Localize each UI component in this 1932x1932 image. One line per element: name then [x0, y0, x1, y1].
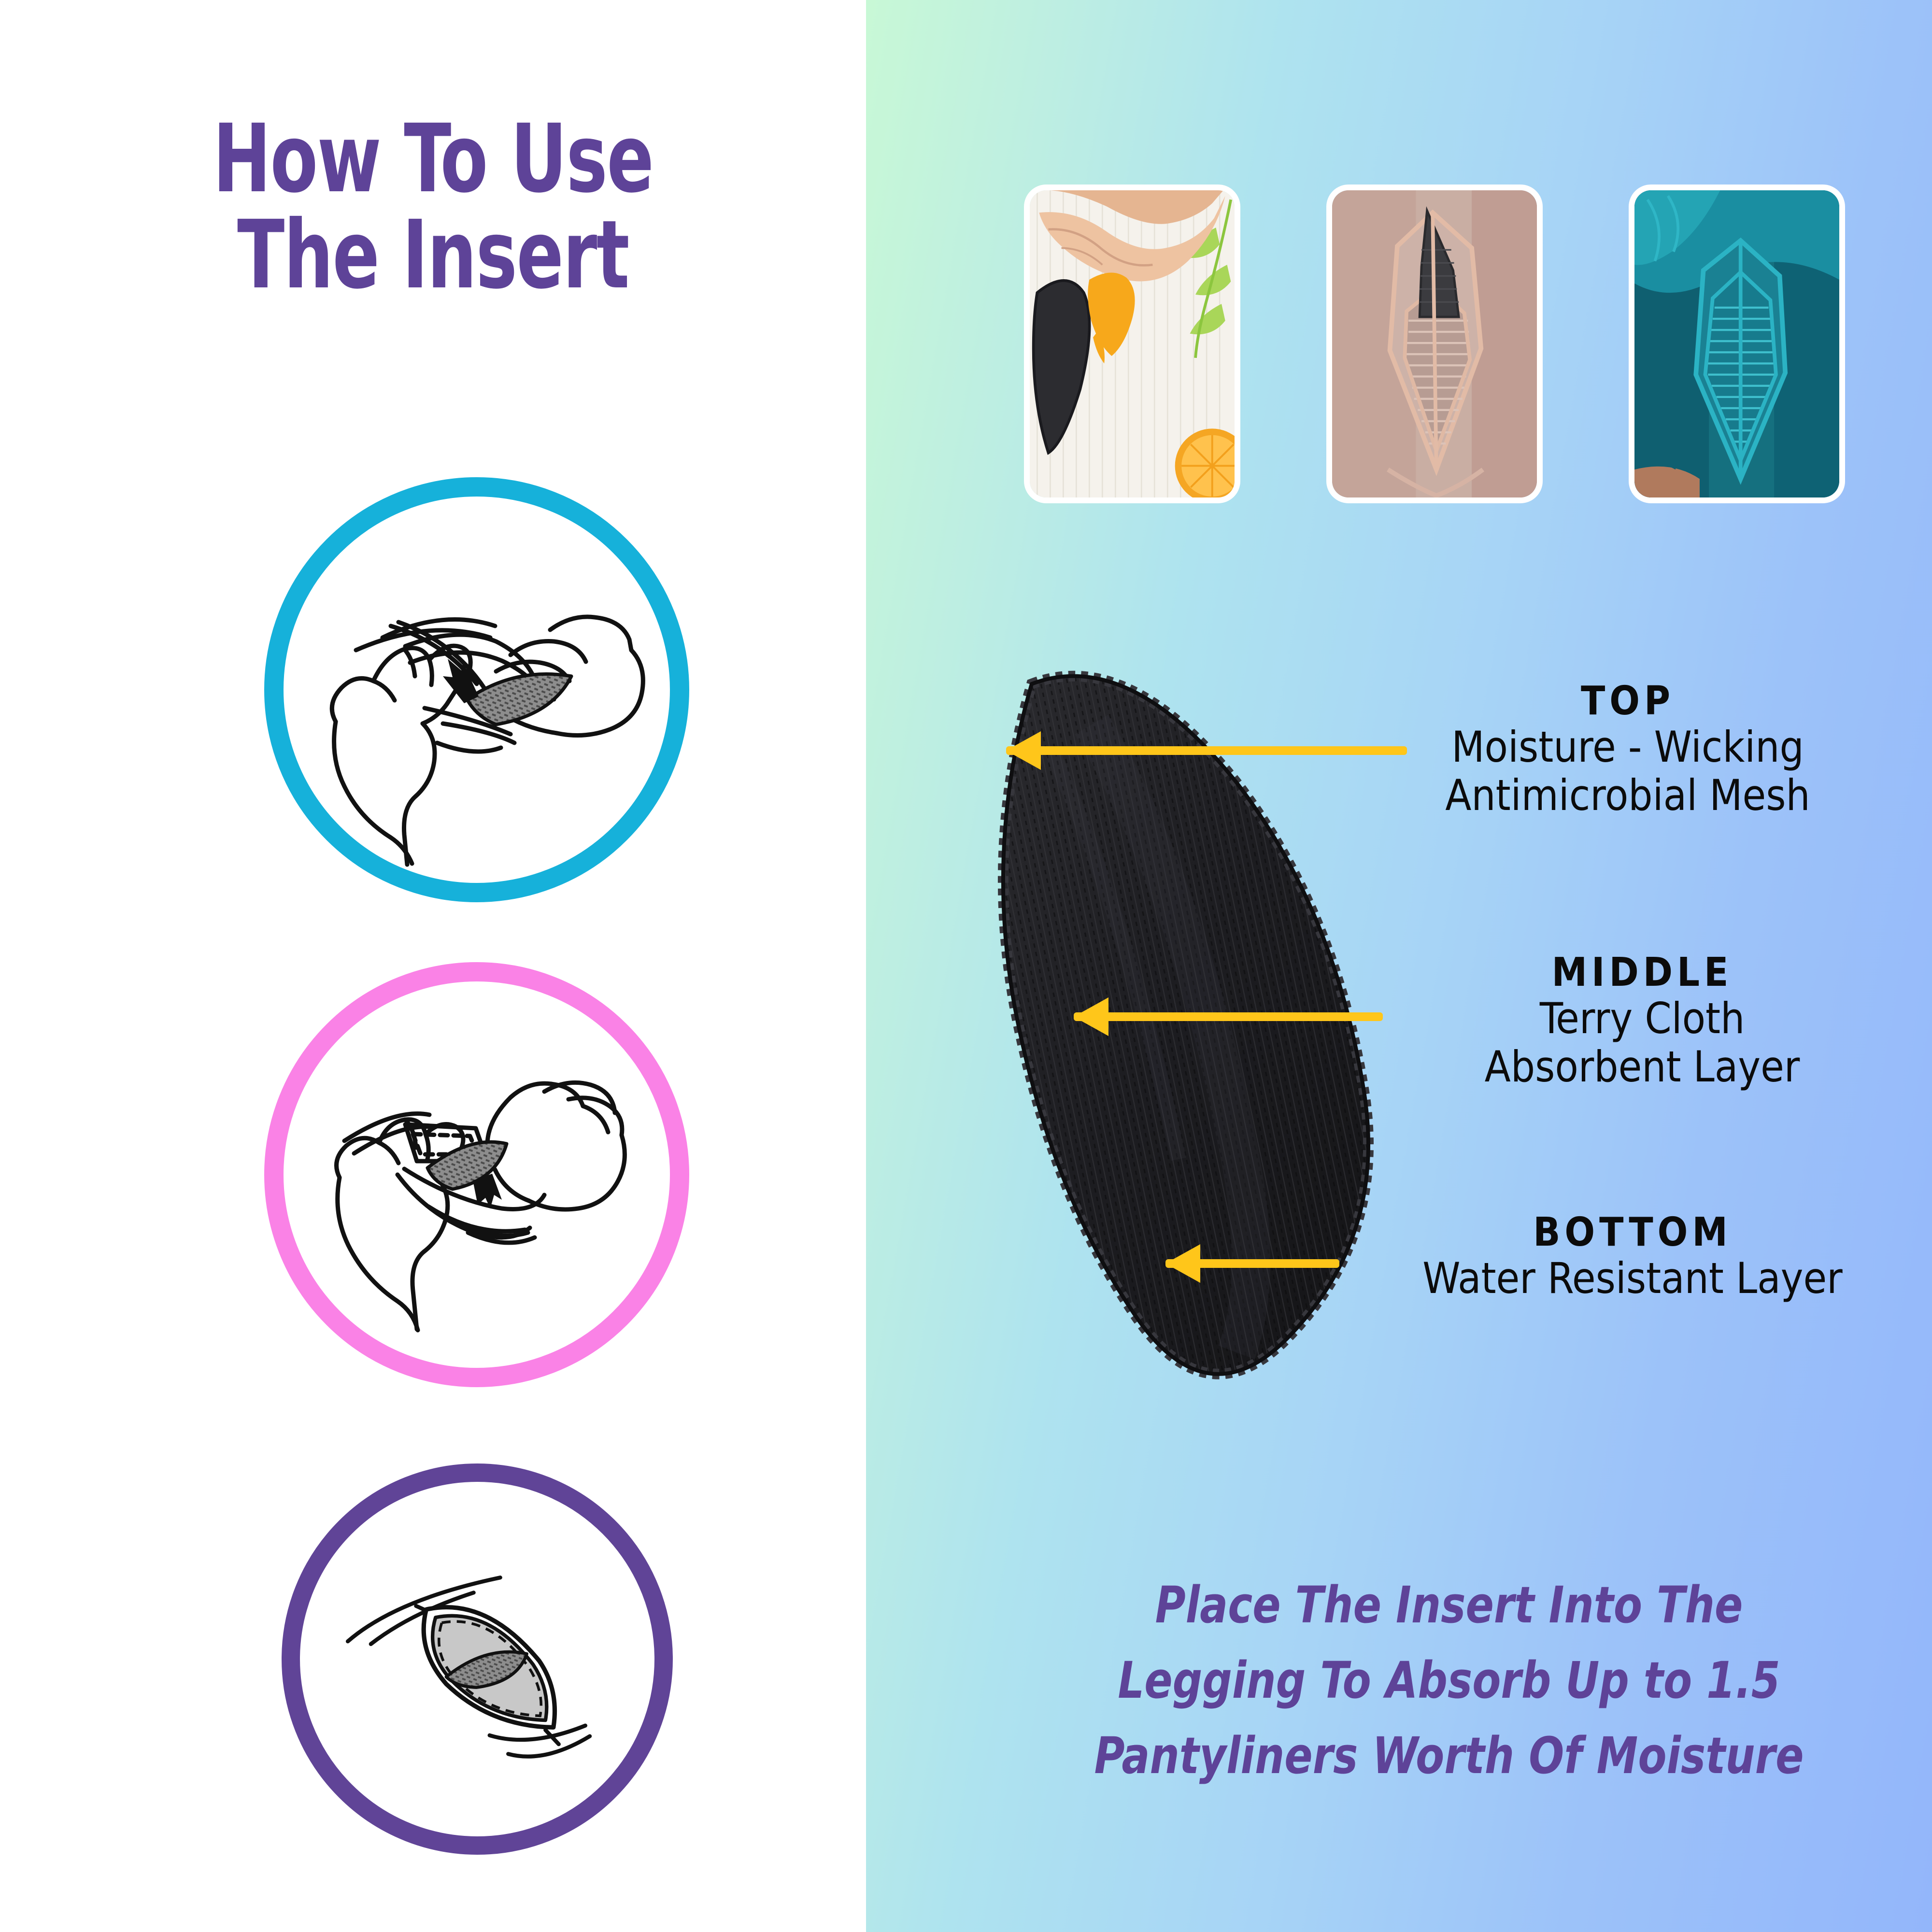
step-2-illustration	[264, 962, 689, 1387]
layer-bottom-heading: BOTTOM	[1367, 1211, 1898, 1254]
thumbnail-3[interactable]	[1629, 185, 1845, 503]
layer-top-line-2: Antimicrobial Mesh	[1386, 771, 1869, 820]
footer-caption-line-3: Pantyliners Worth Of Moisture	[1067, 1718, 1831, 1793]
pad-seated-in-gusset-icon	[300, 1482, 654, 1836]
photo-thumbnail-strip	[1024, 185, 1845, 503]
page-title-line-1: How To Use	[213, 104, 653, 213]
layer-label-middle: MIDDLE Terry Cloth Absorbent Layer	[1401, 952, 1884, 1091]
thumbnail-3-image	[1634, 190, 1839, 497]
thumbnail-1-image	[1030, 190, 1235, 497]
layer-middle-line-2: Absorbent Layer	[1401, 1043, 1884, 1091]
hands-inserting-pad-icon	[284, 497, 670, 883]
thumbnail-1[interactable]	[1024, 185, 1240, 503]
hands-tucking-pad-icon	[284, 981, 670, 1368]
footer-caption-line-1: Place The Insert Into The	[1067, 1567, 1831, 1643]
thumbnail-2-image	[1332, 190, 1537, 497]
step-3-illustration	[282, 1463, 673, 1855]
thumbnail-2[interactable]	[1326, 185, 1543, 503]
layer-top-line-1: Moisture - Wicking	[1386, 723, 1869, 771]
footer-caption: Place The Insert Into The Legging To Abs…	[1067, 1567, 1831, 1793]
infographic-page: How To Use The Insert	[0, 0, 1932, 1932]
layer-bottom-line-1: Water Resistant Layer	[1367, 1254, 1898, 1303]
layer-label-bottom: BOTTOM Water Resistant Layer	[1367, 1211, 1898, 1303]
page-title-line-2: The Insert	[78, 207, 788, 303]
layer-middle-heading: MIDDLE	[1401, 952, 1884, 994]
layer-middle-line-1: Terry Cloth	[1401, 994, 1884, 1043]
layer-top-heading: TOP	[1386, 680, 1869, 723]
pad-shape-step1	[467, 674, 571, 724]
footer-caption-line-2: Legging To Absorb Up to 1.5	[1067, 1643, 1831, 1718]
page-title: How To Use The Insert	[78, 111, 788, 303]
layer-label-top: TOP Moisture - Wicking Antimicrobial Mes…	[1386, 680, 1869, 820]
step-1-illustration	[264, 477, 689, 902]
